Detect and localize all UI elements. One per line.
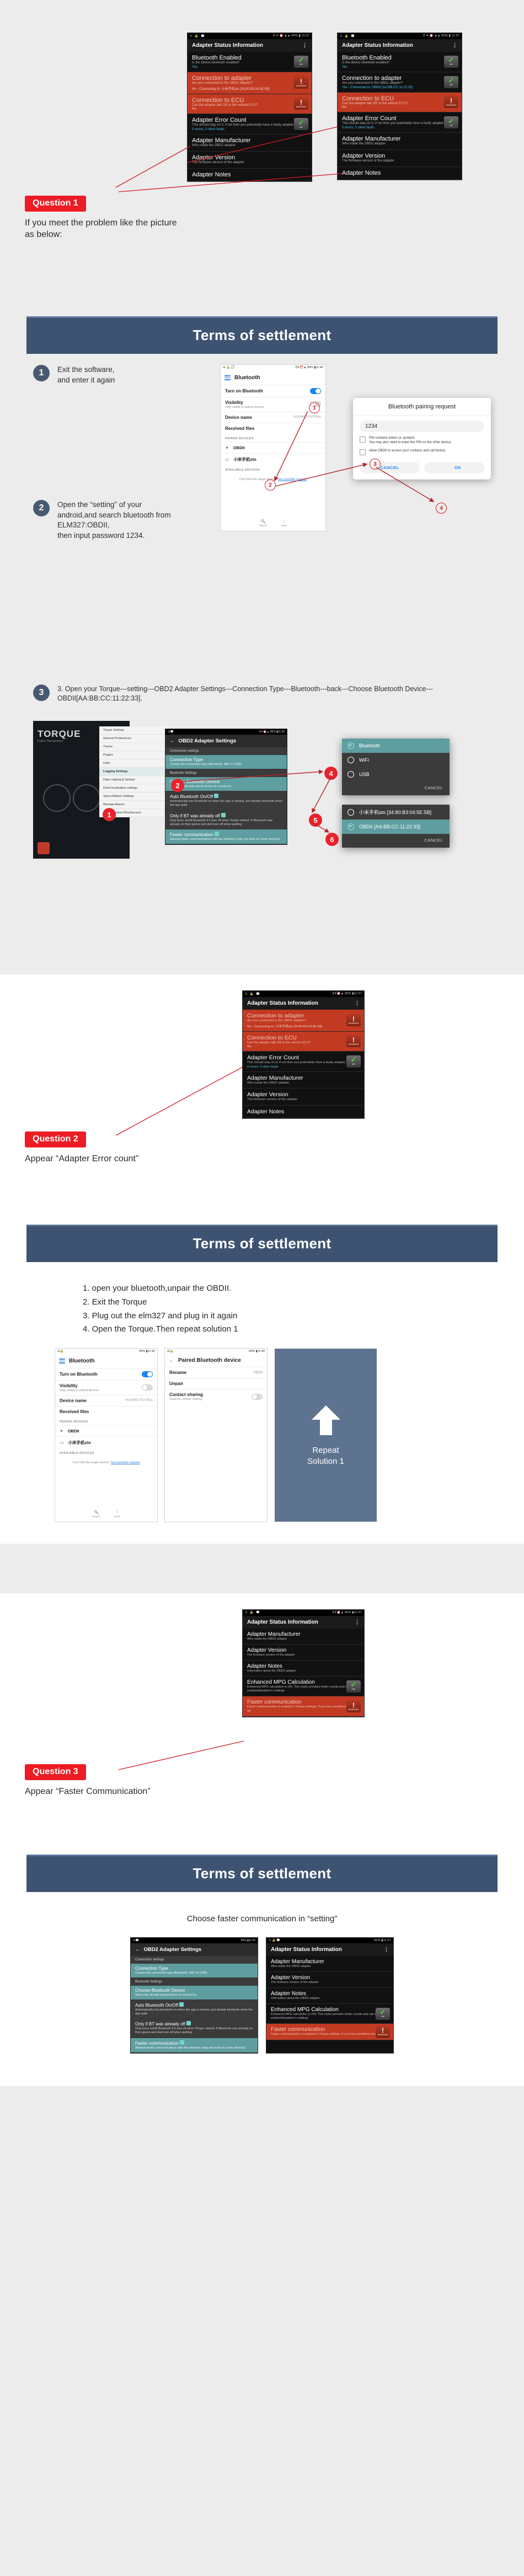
table-row[interactable]: Adapter Notes [188,169,312,181]
see-possible-reasons-link[interactable]: See possible reasons [278,478,307,481]
table-row[interactable]: Adapter ManufacturerWho made the OBD2 ad… [243,1629,364,1645]
setting-subtitle: Automatically turn bluetooth on when the… [135,2008,253,2016]
settings-item-faster-communication[interactable]: Faster communication Attempt faster comm… [165,829,287,844]
table-row[interactable]: Adapter VersionThe firmware version of t… [243,1645,364,1661]
action-bar: Adapter Status Information ⋮ [243,997,364,1010]
contacts-checkbox[interactable] [360,449,366,455]
status-bar: ⇅ 🔒 💬 ⏱✶⏰▲ 85% ▮11:37 [243,1610,364,1616]
table-row[interactable]: Connection to ECUCan the adapter talk OK… [243,1032,364,1052]
step-3-number: 3 [33,685,50,701]
table-row[interactable]: Connection to adapterAre you connected t… [338,72,462,93]
row-value: 0 errors, 0 other faults [247,1065,360,1069]
solution-2-line-1: 1. open your bluetooth,unpair the OBDII. [83,1282,524,1296]
settings-item-only-if-bt-was-already-off[interactable]: Only if BT was already off Only turns on… [131,2019,258,2038]
option-label: 小米手机sto [34:80:B3:04:5E:5B] [359,809,431,816]
row-title: Adapter Version [271,1975,389,1981]
pin-symbols-checkbox-row[interactable]: PIN contains letters or symbols You may … [360,436,484,445]
question-1-text: If you meet the problem like the picture… [25,217,179,240]
checked-icon[interactable] [179,2002,184,2007]
settings-item-only-if-bt-was-already-off[interactable]: Only if BT was already off Only turns on… [165,811,287,829]
adapter-settings-list: Connection settingsConnection TypeChoose… [131,1956,258,2053]
paired-device-title: Paired Bluetooth device [178,1357,241,1364]
row-subtitle: Faster communication is enabled in Torqu… [271,2033,389,2036]
see-possible-reasons-link[interactable]: See possible reasons [111,1461,140,1464]
status-bar: ☰💬 85% ▮11:35 [131,1938,258,1943]
row-subtitle: Enhanced MPG calculation is ON. This mod… [271,2013,389,2020]
status-icons-right: ⏱✶⏰▲ 85% ▮11:37 [332,1611,362,1615]
available-devices-header: AVAILABLE DEVICES [221,465,325,473]
table-row[interactable]: Adapter Notes [338,167,462,180]
list-item[interactable]: VisibilityOnly visible to paired devices [55,1380,157,1395]
row-title: Adapter Version [247,1091,360,1098]
adapter-settings-list: Connection settingsConnection TypeChoose… [165,747,287,844]
status-badge-ok: ✓OK [444,56,458,68]
section-1-solution: 1 Exit the software, and enter it again … [0,354,524,677]
overflow-menu-icon[interactable]: ⋮ [355,1621,360,1624]
action-bar: Adapter Status Information ⋮ [338,39,462,52]
row-value: HUAWEI P10 Plus [126,1399,153,1402]
hamburger-icon[interactable] [224,374,231,381]
row-subtitle: Only visible to paired devices [225,406,264,409]
bluetooth-icon: ✶ [225,445,229,450]
list-item[interactable]: ✶OBDII [221,442,325,453]
sidebar-item-theme[interactable]: Theme [99,743,168,751]
rename-row[interactable]: Rename OBDII [165,1367,267,1378]
settings-group-header: Connection settings [131,1956,258,1964]
torque-settings-menu-screenshot: Torque SettingsGeneral PreferencesThemeP… [99,726,168,817]
radio-option[interactable]: 小米手机sto [34:80:B3:04:5E:5B] [342,805,450,820]
sidebar-item-general-preferences[interactable]: General Preferences [99,735,168,743]
table-row[interactable]: Adapter ManufacturerWho made the OBD2 ad… [266,1956,393,1972]
nav-more[interactable]: ⋮More [115,1510,120,1518]
settings-item-connection-type[interactable]: Connection TypeChoose the connection typ… [165,755,287,769]
contact-sharing-sub: Used for contact sharing [169,1398,203,1401]
row-value: HUAWEI P10 Plus [294,416,321,419]
list-item[interactable]: Turn on Bluetooth [55,1368,157,1380]
step-1-text: Exit the software, and enter it again [57,365,115,385]
back-icon[interactable]: ← [135,1947,141,1953]
row-subtitle: Information about the OBD2 adapter [247,1669,360,1673]
hamburger-icon[interactable] [59,1357,65,1365]
contact-sharing-row[interactable]: Contact sharing Used for contact sharing [165,1389,267,1404]
nav-search[interactable]: 🔍Search [92,1510,100,1518]
setting-title: Connection Type [170,757,282,762]
table-row[interactable]: Bluetooth EnabledIs the device bluetooth… [338,52,462,72]
table-row[interactable]: Adapter VersionThe firmware version of t… [243,1088,364,1106]
action-bar: Adapter Status Information ⋮ [243,1616,364,1629]
radio-icon[interactable] [347,742,354,749]
table-row[interactable]: Faster communicationFaster communication… [266,2024,393,2040]
pin-symbols-checkbox[interactable] [360,436,366,443]
row-title: Connection to adapter [247,1012,360,1019]
paired-device-list: ✶OBDII▭小米手机sto [221,442,325,465]
row-toggle[interactable] [310,388,321,394]
status-icons-left: ⇅ 🔒 💬 [245,1611,260,1614]
radio-icon[interactable] [347,809,354,816]
device-name: 小米手机sto [68,1440,91,1446]
solution-2-line-2: 2. Exit the Torque [83,1296,524,1309]
status-badge-warning: !WARNING [294,77,308,89]
row-title: Faster communication [271,2027,389,2033]
table-row[interactable]: Adapter ManufacturerWho made the OBD2 ad… [243,1072,364,1089]
row-title: Device name [60,1398,87,1403]
terms-banner-3: Terms of settlement [26,1855,498,1892]
pin-symbols-label: PIN contains letters or symbols You may … [369,436,452,445]
row-value: Yes [192,66,307,69]
nav-more-label: More [281,524,287,527]
row-title: Connection to adapter [342,75,457,82]
list-item[interactable]: Turn on Bluetooth [221,385,325,397]
step-3: 3 3. Open your Torque---setting---OBD2 A… [33,685,491,704]
setting-subtitle: Attempt faster communications with the i… [135,2046,253,2050]
callout-1: 1 [309,402,320,413]
gauge-speed [43,784,71,812]
status-badge-warning: !WARNING [346,1014,361,1026]
phone-icon: ▭ [60,1440,64,1445]
bluetooth-title-bar: Bluetooth [221,371,325,385]
checked-icon[interactable] [215,832,219,836]
status-bar: ⇅ 🔒 💬 ⏱ ✶ ⏰ ▲▲ 85% ▮ 11:37 [188,33,312,39]
table-row[interactable]: Adapter VersionThe firmware version of t… [338,150,462,167]
status-badge-warning: !WARNING [376,2026,390,2038]
contact-sharing-toggle[interactable] [252,1394,263,1400]
status-icons-left: ⇅ 🔒 💬 [245,993,260,996]
radio-option[interactable]: USB [342,767,450,782]
terms-banner-2: Terms of settlement [26,1225,498,1262]
rename-value: OBDII [254,1371,263,1375]
status-icons-right: 84% ▮11:40 [249,1350,265,1353]
faster-communication-screenshot: ⇅ 🔒 💬 ⏱✶⏰▲ 85% ▮11:37 Adapter Status Inf… [243,1610,364,1717]
question-2-tag: Question 2 [25,1131,86,1147]
status-row-list: Connection to adapterAre you connected t… [243,1010,364,1118]
table-row[interactable]: Connection to ECUCan the adapter talk OK… [338,93,462,113]
sidebar-item-dash-localisation-settings[interactable]: Dash localisation settings [99,784,168,793]
adapter-status-faster-comm-screenshot: ⇅🔒💬 85% ▮11:37 Adapter Status Informatio… [266,1938,393,2053]
row-value: No [247,1045,360,1048]
row-subtitle: Are you connected to the OBD2 adapter? [247,1019,360,1023]
contacts-label: Allow OBDII to access your contacts and … [369,449,445,453]
status-row-list: Bluetooth EnabledIs the device bluetooth… [188,52,312,181]
row-subtitle: Enhanced MPG calculation is ON. This mod… [247,1685,360,1693]
row-title: Enhanced MPG Calculation [271,2007,389,2013]
radio-icon[interactable] [347,771,354,778]
question-1-tag: Question 1 [25,196,86,212]
status-row-list: Adapter ManufacturerWho made the OBD2 ad… [243,1629,364,1717]
setting-title: Faster communication [170,832,282,837]
row-toggle[interactable] [142,1371,153,1377]
bluetooth-device-cancel[interactable]: CANCEL [342,834,450,848]
callout-4: 4 [436,503,447,514]
row-subtitle: This should stay on 0, if not then you p… [342,122,457,126]
status-icons-right: ⏱✶⏰▲ 84% ▮11:40 [295,366,323,370]
row-subtitle: Who made the OBD2 adapter [247,1637,360,1641]
settings-item-connection-type[interactable]: Connection TypeChoose the connection typ… [131,1964,258,1978]
list-item[interactable]: ▭小米手机sto [221,453,325,465]
step-3-text: 3. Open your Torque---setting---OBD2 Ada… [57,685,491,704]
question-2-block: Question 2 Appear “Adapter Error count” [25,1131,179,1165]
row-title: Adapter Notes [192,171,307,178]
list-item[interactable]: ✶OBDII [55,1425,157,1436]
row-title: Adapter Manufacturer [271,1959,389,1965]
section-2-solution: 1. open your bluetooth,unpair the OBDII.… [0,1262,524,1544]
list-item[interactable]: Device nameHUAWEI P10 Plus [221,412,325,423]
action-bar: Adapter Status Information ⋮ [266,1943,393,1956]
adapter-settings-title: ← OBD2 Adapter Settings [165,735,287,747]
status-icons-left: ⇅ 🔒 💬 [190,35,205,38]
status-icons-right: 85% ▮11:35 [241,1939,255,1942]
row-subtitle: Only visible to paired devices [60,1389,99,1392]
status-badge-ok: ✓OK [294,118,308,130]
row-subtitle: Faster communication is enabled in Torqu… [247,1705,360,1713]
paired-device-list: ✶OBDII▭小米手机sto [55,1425,157,1448]
android-bluetooth-settings-screenshot: ☰ 🔒 💬 ⏱✶⏰▲ 84% ▮11:40 Bluetooth Turn on … [221,365,325,531]
torque-brand: TORQUE [38,729,81,740]
table-row[interactable]: Connection to adapterAre you connected t… [188,72,312,94]
screen-title: Adapter Status Information [247,1000,318,1006]
table-row[interactable]: Adapter Notes [243,1106,364,1118]
paired-device-detail-screenshot: ☰🔒 84% ▮11:40 ← Paired Bluetooth device … [165,1349,267,1522]
device-name: 小米手机sto [234,456,256,462]
radio-icon[interactable] [347,823,354,830]
setting-title: Faster communication [135,2040,253,2046]
row-title: Turn on Bluetooth [60,1372,98,1377]
bluetooth-unpair-screenshot: ☰🔒 84% ▮11:40 Bluetooth Turn on Bluetoot… [55,1349,157,1522]
row-title: Adapter Error Count [192,117,307,123]
sidebar-item-plugins[interactable]: Plugins [99,751,168,759]
table-row[interactable]: Adapter Error CountThis should stay on 0… [338,112,462,133]
screen-title: Adapter Status Information [247,1619,318,1625]
connection-type-cancel[interactable]: CANCEL [342,782,450,795]
row-title: Turn on Bluetooth [225,389,263,394]
overflow-menu-icon[interactable]: ⋮ [302,44,307,47]
table-row[interactable]: Enhanced MPG CalculationEnhanced MPG cal… [243,1677,364,1696]
table-row[interactable]: Faster communicationFaster communication… [243,1696,364,1716]
screen-title: Adapter Status Information [342,42,413,48]
setting-title: Only if BT was already off [135,2021,253,2027]
radio-icon[interactable] [347,757,354,763]
row-title: Faster communication [247,1699,360,1705]
checked-icon[interactable] [221,813,226,817]
adapter-error-count-screenshot: ⇅ 🔒 💬 ⏱✶⏰▲ 85% ▮11:37 Adapter Status Inf… [243,991,364,1118]
sidebar-item-logging-settings[interactable]: Logging Settings [99,768,168,776]
row-title: Adapter Version [192,154,307,161]
status-bar: ☰🔒 84% ▮11:40 [165,1349,267,1354]
option-label: Bluetooth [359,743,380,748]
row-subtitle: The firmware version of the adapter [271,1981,389,1985]
ok-button[interactable]: (4) OK [424,462,484,473]
bottom-nav: 🔍Search ⋮More [55,1507,157,1522]
table-row[interactable]: Adapter Error CountThis should stay on 0… [243,1052,364,1072]
row-title: Adapter Version [247,1647,360,1653]
adapter-settings-title-text: OBD2 Adapter Settings [144,1947,202,1953]
sidebar-item-speech-alarm-settings[interactable]: Speech/Alarm Settings [99,793,168,801]
find-device-hint: Can't find the target device? See possib… [55,1457,157,1469]
status-icons-right: 84% ▮11:40 [139,1350,155,1353]
setting-subtitle: Attempt faster communications with the i… [170,838,282,842]
adapter-settings-title: ← OBD2 Adapter Settings [131,1943,258,1956]
status-bar: ⇅ 🔒 💬 ⏱ ✶ ⏰ ▲▲ 85% ▮ 11:37 [338,33,462,39]
list-item[interactable]: Device nameHUAWEI P10 Plus [55,1395,157,1406]
status-badge-ok: ✓OK [444,76,458,88]
setting-subtitle: Choose the connection type (Bluetooth, W… [170,763,282,767]
radio-option[interactable]: WiFi [342,753,450,767]
row-title: Adapter Error Count [247,1054,360,1061]
status-icons-right: ⏱✶⏰▲ 85% ▮11:35 [259,730,285,734]
table-row[interactable]: Connection to adapterAre you connected t… [243,1010,364,1032]
row-title: Visibility [60,1383,99,1388]
table-row[interactable]: Adapter Error CountThis should stay on 0… [188,114,312,134]
checked-icon[interactable] [180,2040,184,2045]
screen-title: Adapter Status Information [192,42,263,48]
setting-subtitle: Choose the connection type (Bluetooth, W… [135,1971,253,1975]
hint-text: Can't find the target device? [72,1461,111,1464]
nav-more-label: More [115,1515,120,1518]
ok-label: OK [455,465,461,470]
status-badge-ok: ✓OK [376,2008,390,2020]
sidebar-item-units[interactable]: Units [99,759,168,768]
unpair-row[interactable]: Unpair [165,1378,267,1389]
status-icons-left: ☰🔒 [167,1350,174,1353]
list-item[interactable]: ▭小米手机sto [55,1436,157,1448]
status-row-list: Adapter ManufacturerWho made the OBD2 ad… [266,1956,393,2040]
settings-group-header: Bluetooth Settings [165,769,287,777]
back-icon[interactable]: ← [170,738,175,744]
row-subtitle: Are you connected to the OBD2 adapter? [192,82,307,86]
row-subtitle: The firmware version of the adapter [192,161,307,165]
sidebar-item-torque-settings[interactable]: Torque Settings [99,726,168,735]
row-subtitle: Who made the OBD2 adapter [192,144,307,148]
callout-settings-6: 6 [325,833,339,846]
status-row-list: Bluetooth EnabledIs the device bluetooth… [338,52,462,180]
settings-item-auto-bluetooth-on-off[interactable]: Auto Bluetooth On/Off Automatically turn… [131,2000,258,2019]
row-title: Connection to ECU [192,97,307,104]
nav-more[interactable]: ⋮More [281,519,287,527]
action-bar: Adapter Status Information ⋮ [188,39,312,52]
status-badge-warning: !WARNING [346,1035,361,1047]
bluetooth-title-bar: Bluetooth [55,1354,157,1368]
table-row[interactable]: Enhanced MPG CalculationEnhanced MPG cal… [266,2004,393,2024]
table-row[interactable]: Adapter NotesInformation about the OBD2 … [266,1988,393,2004]
row-subtitle: Are you connected to the OBD2 adapter? [342,82,457,86]
setting-title: Choose Bluetooth Device [170,779,282,784]
row-subtitle: This should stay on 0, if not then you p… [247,1061,360,1065]
row-subtitle: Can the adapter talk OK to the vehicle E… [247,1041,360,1046]
table-row[interactable]: Adapter VersionThe firmware version of t… [266,1972,393,1988]
list-item[interactable]: Received files [55,1406,157,1417]
bluetooth-title: Bluetooth [234,375,260,381]
row-title: Adapter Error Count [342,115,457,122]
overflow-menu-icon[interactable]: ⋮ [452,44,457,47]
row-title: Enhanced MPG Calculation [247,1679,360,1685]
callout-2: 2 [265,479,276,491]
status-bar: ⇅ 🔒 💬 ⏱✶⏰▲ 85% ▮11:37 [243,991,364,997]
list-item[interactable]: Received files [221,423,325,434]
settings-item-auto-bluetooth-on-off[interactable]: Auto Bluetooth On/Off Automatically turn… [165,791,287,810]
section-1-step-3: 3 3. Open your Torque---setting---OBD2 A… [0,677,524,908]
row-toggle[interactable] [142,1384,153,1391]
pin-input[interactable]: 1234 [360,421,484,432]
cancel-button[interactable]: CANCEL [360,462,420,473]
unpair-label: Unpair [169,1381,183,1386]
radio-option[interactable]: Bluetooth [342,739,450,753]
table-row[interactable]: Adapter ManufacturerWho made the OBD2 ad… [188,134,312,152]
section-2: ⇅ 🔒 💬 ⏱✶⏰▲ 85% ▮11:37 Adapter Status Inf… [0,974,524,1262]
sidebar-item-data-logging-upload[interactable]: Data Logging & Upload [99,776,168,784]
table-row[interactable]: Adapter NotesInformation about the OBD2 … [243,1661,364,1677]
row-title: Adapter Manufacturer [342,136,457,142]
overflow-menu-icon[interactable]: ⋮ [355,1002,360,1005]
status-icons-right: 85% ▮11:37 [374,1939,391,1942]
rename-label: Rename [169,1370,186,1375]
repeat-solution-panel: Repeat Solution 1 [275,1349,377,1522]
phone-icon: ▭ [225,457,229,462]
callout-3: 3 [370,459,381,470]
adapter-settings-title-text: OBD2 Adapter Settings [179,738,237,744]
pairing-dialog-body: 1234 PIN contains letters or symbols You… [353,416,491,457]
solution-3-title: Choose faster communication in “setting” [0,1914,524,1923]
section-1: ⇅ 🔒 💬 ⏱ ✶ ⏰ ▲▲ 85% ▮ 11:37 Adapter Statu… [0,0,524,354]
record-button[interactable] [38,842,50,854]
gauge-rpm [73,784,100,812]
device-name: OBDII [68,1429,79,1433]
contacts-checkbox-row[interactable]: Allow OBDII to access your contacts and … [360,449,484,455]
overflow-menu-icon[interactable]: ⋮ [384,1948,389,1951]
settings-item-faster-communication[interactable]: Faster communication Attempt faster comm… [131,2038,258,2053]
nav-search[interactable]: 🔍Search [259,519,267,527]
status-icons-left: ☰🔒 [57,1350,64,1353]
row-title: Adapter Notes [342,170,457,176]
status-badge-warning: !WARNING [346,1700,361,1712]
checked-icon[interactable] [186,2021,191,2025]
callout-menu-1: 1 [103,808,116,821]
row-title: Connection to adapter [192,75,307,82]
settings-item-choose-bluetooth-device[interactable]: Choose Bluetooth DeviceSelect the alread… [131,1986,258,2000]
status-bar: ☰🔒 84% ▮11:40 [55,1349,157,1354]
checked-icon[interactable] [214,794,218,798]
status-badge-warning: !WARNING [294,98,308,110]
row-subtitle: Information about the OBD2 adapter [271,1997,389,2001]
step-1-number: 1 [33,365,50,381]
solution-2-line-4: 4. Open the Torque.Then repeat solution … [83,1323,524,1336]
section-3: ⇅ 🔒 💬 ⏱✶⏰▲ 85% ▮11:37 Adapter Status Inf… [0,1593,524,1892]
table-row[interactable]: Connection to ECUCan the adapter talk OK… [188,94,312,115]
question-3-block: Question 3 Appear “Faster Communication” [25,1764,179,1797]
setting-title: Auto Bluetooth On/Off [135,2002,253,2008]
row-value: No [342,106,457,109]
setting-title: Auto Bluetooth On/Off [170,794,282,799]
nav-search-label: Search [259,524,267,527]
back-icon[interactable]: ← [169,1357,174,1364]
repeat-solution-label: Repeat Solution 1 [307,1445,344,1467]
table-row[interactable]: Bluetooth EnabledIs the device bluetooth… [188,52,312,72]
terms-banner-1: Terms of settlement [26,316,498,354]
status-icons-right: ⏱✶⏰▲ 85% ▮11:37 [332,992,362,996]
row-title: Connection to ECU [342,95,457,102]
status-icons-left: ☰ 🔒 💬 [223,366,235,370]
radio-option[interactable]: OBDII [AA:BB:CC:11:22:33] [342,820,450,834]
bottom-nav: 🔍Search ⋮More [221,516,325,531]
table-row[interactable]: Adapter VersionThe firmware version of t… [188,152,312,169]
device-name: OBDII [233,445,245,450]
row-value: 0 errors, 0 other faults [342,126,457,130]
step-2-number: 2 [33,500,50,516]
row-value: No - Connecting to: 小米手机sto [34:80:B3:04… [192,86,307,91]
status-badge-ok: ✓OK [346,1680,361,1693]
paired-device-title-bar: ← Paired Bluetooth device [165,1354,267,1367]
setting-subtitle: Select the already paired device to conn… [135,1993,253,1997]
status-bar: ☰💬 ⏱✶⏰▲ 85% ▮11:35 [165,729,287,735]
table-row[interactable]: Adapter ManufacturerWho made the OBD2 ad… [338,133,462,150]
